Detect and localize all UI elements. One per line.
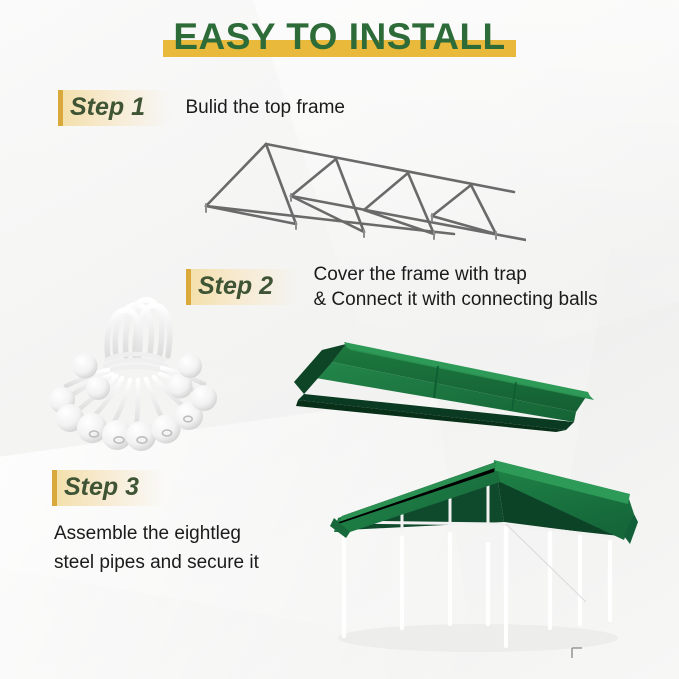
step-2-description: Cover the frame with trap & Connect it w… [313,262,597,312]
step-2-heading: Step 2 Cover the frame with trap & Conne… [186,262,598,312]
page-title: EASY TO INSTALL [163,14,515,61]
infographic-page: EASY TO INSTALL Step 1 Bulid the top fra… [0,0,679,679]
title-container: EASY TO INSTALL [0,14,679,61]
canopy-cover-illustration [288,322,598,432]
step-1-description: Bulid the top frame [185,95,344,120]
step-3-description: Assemble the eightleg steel pipes and se… [54,520,259,577]
step-3-heading: Step 3 [52,470,165,506]
step-2-line-1: Cover the frame with trap [313,264,526,285]
step-3-line-1: Assemble the eightleg [54,523,241,544]
title-text: EASY TO INSTALL [173,16,505,57]
step-1-badge: Step 1 [58,90,171,126]
step-3-line-2: steel pipes and secure it [54,552,259,573]
step-3-badge: Step 3 [52,470,165,506]
bungee-balls-illustration [38,288,228,453]
assembled-carport-illustration [328,452,668,662]
step-1-heading: Step 1 Bulid the top frame [58,90,345,126]
step-2-line-2: & Connect it with connecting balls [313,289,597,310]
roof-frame-illustration [196,128,526,248]
